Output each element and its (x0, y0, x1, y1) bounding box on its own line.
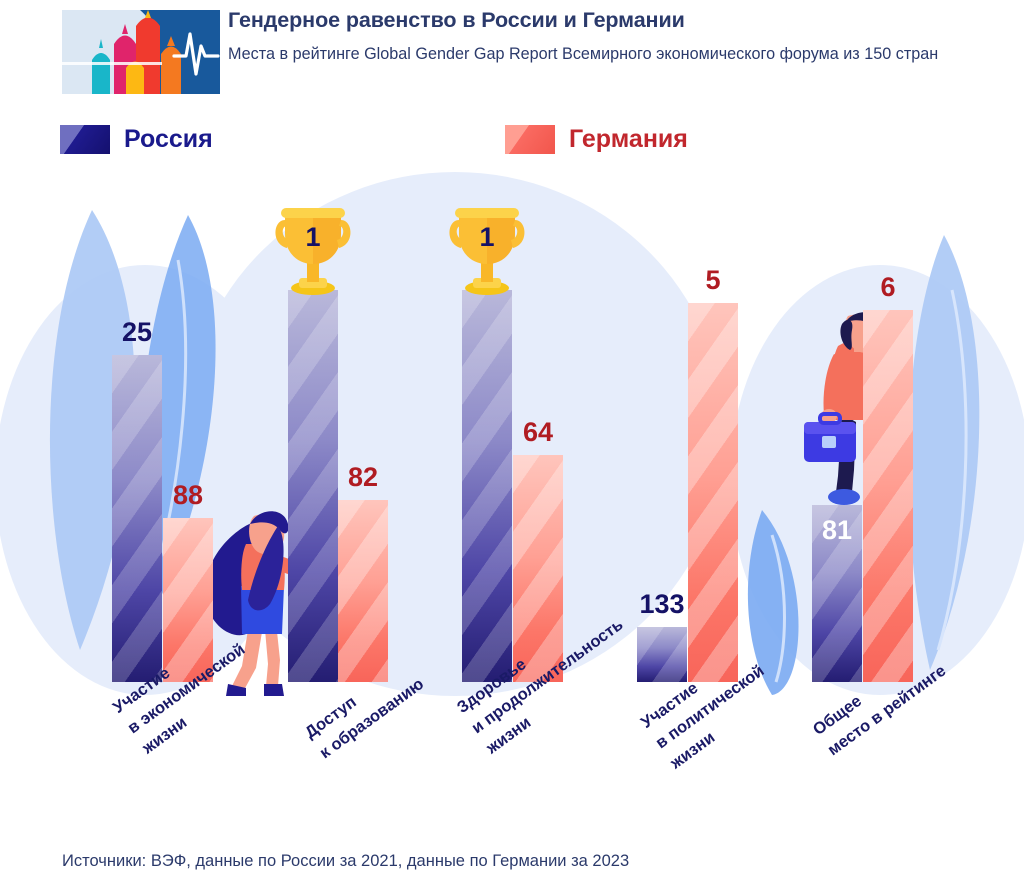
bar-russia-3[interactable] (637, 627, 687, 682)
header: Гендерное равенство в России и Германии … (0, 0, 1024, 112)
bar-value-label: 25 (102, 317, 172, 348)
source-note: Источники: ВЭФ, данные по России за 2021… (62, 852, 629, 871)
bar-germany-4[interactable] (863, 310, 913, 682)
bar-value-label: 81 (802, 515, 872, 546)
trophy-icon: 1 (271, 202, 355, 300)
bar-value-label: 5 (678, 265, 748, 296)
svg-text:1: 1 (305, 222, 320, 252)
bar-value-label: 82 (328, 462, 398, 493)
trophy-icon: 1 (445, 202, 529, 300)
bar-germany-1[interactable] (338, 500, 388, 682)
page-title: Гендерное равенство в России и Германии (228, 8, 958, 33)
bar-germany-3[interactable] (688, 303, 738, 682)
logo-artwork (62, 10, 220, 94)
bar-value-label: 6 (853, 272, 923, 303)
bar-russia-0[interactable] (112, 355, 162, 682)
bar-russia-2[interactable] (462, 290, 512, 682)
page-subtitle: Места в рейтинге Global Gender Gap Repor… (228, 41, 943, 67)
bar-value-label: 133 (627, 589, 697, 620)
chart-plot-area: 25881821641335816 Участиев экономической… (0, 150, 1024, 850)
svg-text:1: 1 (479, 222, 494, 252)
bar-value-label: 64 (503, 417, 573, 448)
dw-russia-logo (62, 10, 220, 94)
bar-value-label: 88 (153, 480, 223, 511)
